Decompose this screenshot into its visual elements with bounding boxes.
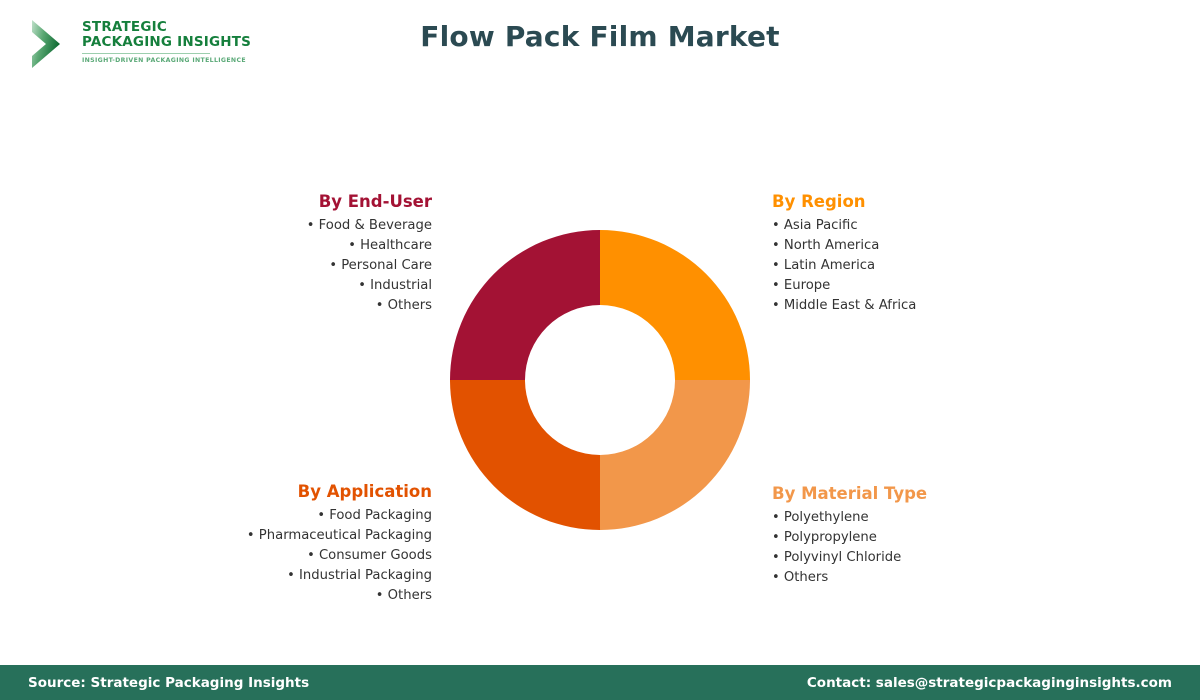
bullet-icon: •	[772, 550, 780, 565]
bullet-icon: •	[772, 530, 780, 545]
bullet-icon: •	[772, 510, 780, 525]
bullet-icon: •	[772, 278, 780, 293]
list-item-label: Europe	[784, 278, 830, 293]
bullet-icon: •	[329, 258, 337, 273]
list-item: • Others	[120, 586, 432, 606]
footer-source: Source: Strategic Packaging Insights	[28, 675, 309, 691]
list-item: • Europe	[772, 276, 1072, 296]
list-item: • Polypropylene	[772, 528, 1072, 548]
list-item: • Industrial	[160, 276, 432, 296]
segment-material-type: By Material Type • Polyethylene • Polypr…	[772, 484, 1072, 588]
bullet-icon: •	[348, 238, 356, 253]
list-item: • Food & Beverage	[160, 216, 432, 236]
list-item-label: Industrial Packaging	[299, 568, 432, 583]
donut-slice-end-user	[450, 230, 600, 380]
logo-divider	[82, 53, 210, 54]
list-item-label: Personal Care	[341, 258, 432, 273]
segment-end-user-title: By End-User	[160, 192, 432, 211]
bullet-icon: •	[772, 218, 780, 233]
bullet-icon: •	[772, 298, 780, 313]
footer-bar: Source: Strategic Packaging Insights Con…	[0, 665, 1200, 700]
bullet-icon: •	[317, 508, 325, 523]
list-item-label: Polypropylene	[784, 530, 877, 545]
list-item: • Consumer Goods	[120, 546, 432, 566]
segment-region-title: By Region	[772, 192, 1072, 211]
bullet-icon: •	[307, 218, 315, 233]
bullet-icon: •	[287, 568, 295, 583]
segment-region-list: • Asia Pacific • North America • Latin A…	[772, 216, 1072, 316]
list-item: • Middle East & Africa	[772, 296, 1072, 316]
list-item: • Pharmaceutical Packaging	[120, 526, 432, 546]
page-title: Flow Pack Film Market	[0, 20, 1200, 53]
list-item: • North America	[772, 236, 1072, 256]
donut-chart	[450, 230, 750, 530]
list-item-label: Polyvinyl Chloride	[784, 550, 901, 565]
donut-slice-region	[600, 230, 750, 380]
list-item-label: Food Packaging	[329, 508, 432, 523]
segment-application-list: • Food Packaging • Pharmaceutical Packag…	[120, 506, 432, 606]
footer-contact: Contact: sales@strategicpackaginginsight…	[807, 675, 1172, 691]
list-item: • Others	[160, 296, 432, 316]
list-item: • Healthcare	[160, 236, 432, 256]
bullet-icon: •	[247, 528, 255, 543]
list-item: • Polyethylene	[772, 508, 1072, 528]
segment-material-type-title: By Material Type	[772, 484, 1072, 503]
list-item: • Industrial Packaging	[120, 566, 432, 586]
list-item: • Food Packaging	[120, 506, 432, 526]
segment-region: By Region • Asia Pacific • North America…	[772, 192, 1072, 316]
list-item-label: Asia Pacific	[784, 218, 858, 233]
list-item-label: Others	[388, 298, 432, 313]
list-item: • Asia Pacific	[772, 216, 1072, 236]
list-item-label: Healthcare	[360, 238, 432, 253]
bullet-icon: •	[772, 258, 780, 273]
logo-tagline: INSIGHT-DRIVEN PACKAGING INTELLIGENCE	[82, 57, 232, 64]
segment-material-type-list: • Polyethylene • Polypropylene • Polyvin…	[772, 508, 1072, 588]
segment-application: By Application • Food Packaging • Pharma…	[120, 482, 432, 606]
list-item-label: Pharmaceutical Packaging	[259, 528, 432, 543]
segment-end-user: By End-User • Food & Beverage • Healthca…	[160, 192, 432, 316]
donut-slice-material-type	[600, 380, 750, 530]
list-item: • Others	[772, 568, 1072, 588]
bullet-icon: •	[772, 238, 780, 253]
list-item-label: Food & Beverage	[319, 218, 432, 233]
list-item: • Polyvinyl Chloride	[772, 548, 1072, 568]
bullet-icon: •	[376, 298, 384, 313]
list-item-label: Polyethylene	[784, 510, 869, 525]
segment-application-title: By Application	[120, 482, 432, 501]
list-item: • Personal Care	[160, 256, 432, 276]
segment-end-user-list: • Food & Beverage • Healthcare • Persona…	[160, 216, 432, 316]
list-item: • Latin America	[772, 256, 1072, 276]
bullet-icon: •	[376, 588, 384, 603]
list-item-label: Industrial	[370, 278, 432, 293]
bullet-icon: •	[307, 548, 315, 563]
list-item-label: Latin America	[784, 258, 875, 273]
list-item-label: Others	[784, 570, 828, 585]
bullet-icon: •	[772, 570, 780, 585]
list-item-label: Middle East & Africa	[784, 298, 917, 313]
donut-slice-application	[450, 380, 600, 530]
bullet-icon: •	[358, 278, 366, 293]
list-item-label: Consumer Goods	[319, 548, 432, 563]
list-item-label: North America	[784, 238, 879, 253]
list-item-label: Others	[388, 588, 432, 603]
